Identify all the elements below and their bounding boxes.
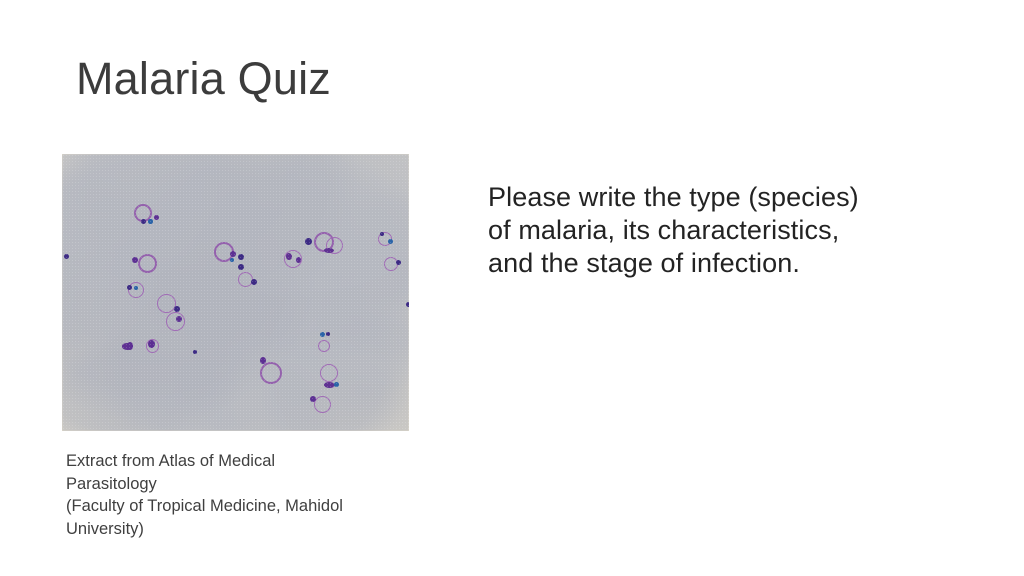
slide-canvas: Malaria Quiz xyxy=(0,0,1024,576)
prompt-line: of malaria, its characteristics, xyxy=(488,214,940,247)
prompt-line: and the stage of infection. xyxy=(488,247,940,280)
figure-block: Extract from Atlas of Medical Parasitolo… xyxy=(62,154,409,431)
prompt-line: Please write the type (species) xyxy=(488,181,940,214)
caption-line: Extract from Atlas of Medical xyxy=(66,452,275,470)
page-title: Malaria Quiz xyxy=(76,50,776,108)
caption-line: University) xyxy=(66,520,144,538)
caption-line: (Faculty of Tropical Medicine, Mahidol xyxy=(66,497,343,515)
malaria-blood-smear-image xyxy=(62,154,409,431)
film-grain-overlay xyxy=(62,154,409,431)
caption-line: Parasitology xyxy=(66,475,157,493)
prompt-text: Please write the type (species) of malar… xyxy=(488,181,940,280)
figure-caption: Extract from Atlas of Medical Parasitolo… xyxy=(66,450,414,540)
